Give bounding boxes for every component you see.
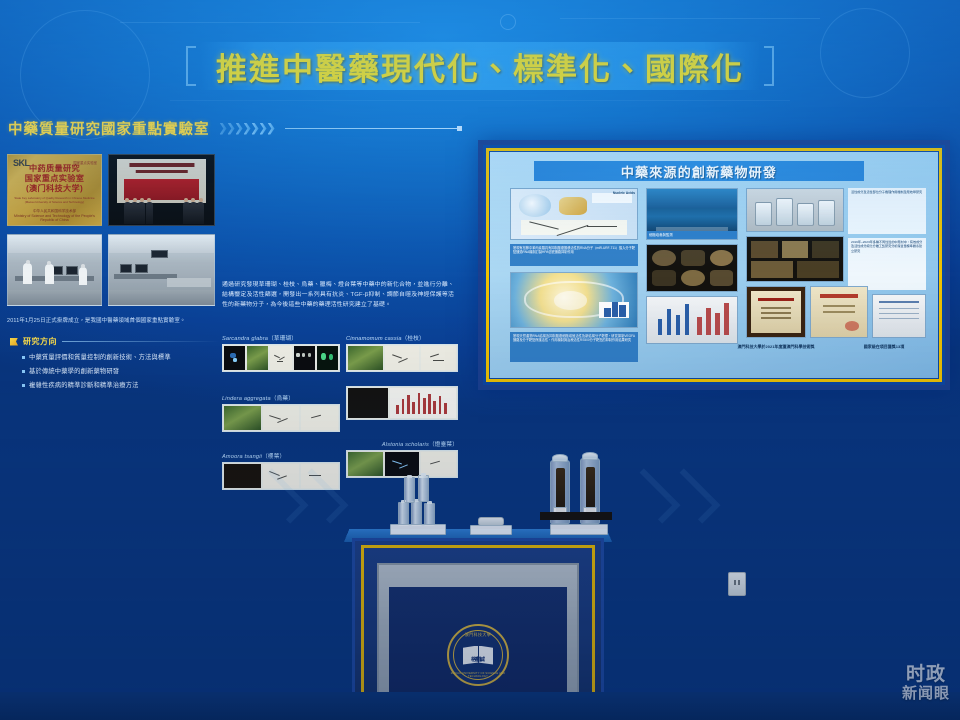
jar-display-base: [540, 512, 612, 520]
screen-side-note-4: 2019年~2023年多種不同性質的中藥材中，有效成分及活性成分純化分離工藝研究…: [848, 238, 926, 290]
lab-researcher: [45, 264, 53, 284]
power-outlet: [728, 572, 746, 596]
decor-circle-small: [820, 8, 910, 98]
lab-ceiling: [8, 235, 101, 253]
lab-monitor: [120, 264, 133, 273]
species-label: Lindera aggregata（烏藥）: [222, 394, 340, 402]
screen-text-block-2: 發現天然產物RNA結構及抑制腫瘤細胞增殖活性及新結構分子靶標，研究抑制VEGFA…: [510, 332, 638, 362]
ceremony-person: [183, 202, 190, 224]
screen-title: 中藥來源的創新藥物研發: [621, 162, 777, 181]
specimen-label-plate-center: [470, 525, 512, 535]
ceremony-text-line-2: [135, 170, 188, 173]
research-heading: 研究方向: [10, 336, 220, 347]
chart-results: [647, 297, 737, 343]
lab-monitor: [135, 264, 148, 273]
jar-lid: [552, 454, 567, 462]
ceremony-person: [146, 202, 153, 224]
plaque-corner-mark: 国家重点实验室: [73, 160, 97, 165]
certificate-document: [751, 291, 801, 333]
species-label: Sarcandra glabra（草珊瑚）: [222, 334, 340, 342]
lab-researcher: [79, 267, 87, 285]
species-label: Alstonia scholaris（燈臺葉）: [346, 440, 458, 448]
lab-researcher: [23, 263, 32, 284]
decor-circle-tiny: [500, 14, 516, 30]
intro-paragraph: 通過研究發現草珊瑚、桂枝、烏藥、臘梅、燈台葉等中藥中的新化合物，並進行分離、結構…: [222, 280, 454, 310]
main-title-banner: 推進中醫藥現代化、標準化、國際化: [200, 42, 760, 90]
figure-instrument: [348, 388, 388, 418]
certificate-document: [811, 287, 867, 337]
info-board-content: [873, 295, 925, 337]
broadcast-watermark: 时政 新闻眼: [902, 665, 950, 702]
figure-plant: [348, 452, 383, 476]
floor: [0, 692, 960, 720]
emblem-book-char-right: 意誠: [475, 656, 485, 663]
specimen-label-plate-left: [390, 524, 446, 535]
figure-structure: [385, 346, 420, 370]
left-info-panel: 中藥質量研究國家重點實驗室 SKL 国家重点实验室 中药质量研究 国家重点实验室…: [0, 118, 462, 408]
pane-gel-results: [646, 296, 738, 344]
plaque-skl-logo: SKL: [13, 158, 30, 168]
specimen-label-plate-right: [550, 524, 608, 535]
screen-text-block-1: 發現有松節中苯丙素類具有抑制腫瘤遷移活性的RNA分子（miR-URF-T11）進…: [510, 244, 638, 266]
pane-nucleic-acids: Nucleic Acids: [510, 188, 638, 240]
presentation-screen[interactable]: 中藥來源的創新藥物研發 Nucleic Acids 發現有松節中苯丙素類具有抑制…: [478, 140, 950, 390]
pane-lab-culture-photo: 細胞培養與監測: [646, 188, 738, 240]
flag-icon: [10, 338, 18, 346]
figure-structure: [263, 406, 300, 430]
pane-info-board: [872, 294, 926, 338]
photo-specimen-grid: [647, 245, 737, 291]
species-block-lindera: Lindera aggregata（烏藥）: [222, 394, 340, 432]
intro-text-column: 通過研究發現草珊瑚、桂枝、烏藥、臘梅、燈台葉等中藥中的新化合物，並進行分離、結構…: [222, 280, 454, 310]
ceremony-person: [124, 202, 131, 224]
figure-plant: [247, 346, 268, 370]
species-label: Amoora tsangii（櫻葉）: [222, 452, 340, 460]
specimen-vial: [398, 502, 409, 526]
photo-sample-jars: [747, 189, 843, 231]
species-block-sarcandra: Sarcandra glabra（草珊瑚）: [222, 334, 340, 372]
chevron-arrows-icon: [220, 123, 275, 135]
diagram-cell: [511, 273, 637, 327]
emblem-bottom-text: MACAU UNIVERSITY OF SCIENCE AND TECHNOLO…: [449, 672, 507, 678]
wall-chevron-decor: [625, 468, 680, 523]
research-list: 中藥質量評價和質量控制的創新技術、方法與標準 基於傳統中藥學的創新藥物研發 複雜…: [10, 353, 220, 390]
opening-ceremony-photo: [108, 154, 215, 226]
page-title: 推進中醫藥現代化、標準化、國際化: [216, 44, 744, 89]
lab-photo-grid: SKL 国家重点实验室 中药质量研究 国家重点实验室 (澳门科技大学) Stat…: [7, 154, 215, 314]
pane-sample-jars: [746, 188, 844, 232]
figure-plant: [224, 406, 261, 430]
jar-lid: [582, 452, 597, 460]
pane-award-certificate-1: [746, 286, 806, 338]
figure-structure: [270, 346, 291, 370]
lab-monitor: [66, 266, 78, 275]
watermark-line-2: 新闻眼: [902, 685, 950, 702]
header-divider: [285, 128, 459, 129]
lab-wall-screen: [151, 250, 168, 258]
screen-caption-2: 國家級在項目獲獎13項: [838, 344, 930, 350]
lab-floor: [8, 290, 101, 305]
ceremony-red-curtain: [124, 179, 200, 200]
lab-floor: [109, 290, 214, 305]
ceremony-person: [190, 202, 197, 224]
ceremony-person: [197, 202, 204, 224]
ceremony-text-line-1: [129, 163, 194, 167]
lab-header-title: 中藥質量研究國家重點實驗室: [8, 118, 210, 139]
banner-edge-left: [186, 46, 196, 86]
banner-edge-right: [764, 46, 774, 86]
screen-content: 中藥來源的創新藥物研發 Nucleic Acids 發現有松節中苯丙素類具有抑制…: [490, 152, 938, 378]
exhibition-wall: 推進中醫藥現代化、標準化、國際化 中藥質量研究國家重點實驗室 SKL 国家重点实…: [0, 0, 960, 720]
figure-strip: [346, 344, 458, 372]
research-directions-block: 研究方向 中藥質量評價和質量控制的創新技術、方法與標準 基於傳統中藥學的創新藥物…: [10, 336, 220, 395]
figure-structure: [421, 346, 456, 370]
figure-gel-blot: [294, 346, 315, 370]
list-item: 複雜性疾病的精準診斷和精準治療方法: [22, 381, 220, 390]
list-item: 中藥質量評價和質量控制的創新技術、方法與標準: [22, 353, 220, 362]
research-divider: [62, 341, 220, 342]
figure-micrograph: [224, 346, 245, 370]
specimen-vial: [411, 501, 422, 526]
ceremony-person: [138, 202, 145, 224]
screen-side-note-3: 活性成分及活性部位分子機理作用機制及藥效學研究: [848, 188, 926, 234]
figure-strip: [222, 404, 340, 432]
list-item: 基於傳統中藥學的創新藥物研發: [22, 367, 220, 376]
screen-title-bar: 中藥來源的創新藥物研發: [534, 161, 864, 181]
figure-strip: [346, 386, 458, 420]
research-title: 研究方向: [23, 336, 57, 347]
wall-chevron-decor: [665, 468, 720, 523]
species-label: Cinnamomum cassia（桂枝）: [346, 334, 458, 342]
ceremony-person: [131, 202, 138, 224]
pane-cell-signaling: [510, 272, 638, 328]
lab-plaque-photo: SKL 国家重点实验室 中药质量研究 国家重点实验室 (澳门科技大学) Stat…: [7, 154, 102, 226]
watermark-line-1: 时政: [902, 665, 950, 685]
figure-structure: [301, 406, 338, 430]
specimen-vial: [404, 477, 415, 503]
university-emblem: 澳門科技大學 MACAU UNIVERSITY OF SCIENCE AND T…: [447, 624, 509, 686]
pane-specimen-grid: [646, 244, 738, 292]
emblem-top-text: 澳門科技大學: [449, 632, 507, 638]
pane-caption: 細胞培養與監測: [647, 231, 737, 239]
specimen-vial: [424, 503, 435, 526]
pane-award-certificate-2: [810, 286, 868, 338]
figure-fluorescence: [317, 346, 338, 370]
decor-line-3: [170, 100, 790, 101]
lab-establishment-caption: 2011年1月25日正式掛牌成立，是我國中醫藥領域首個國家重點實驗室。: [7, 318, 217, 326]
specimen-vial: [418, 475, 429, 502]
specimen-group-vials: [396, 470, 452, 526]
figure-bar-chart: [390, 388, 456, 418]
plaque-english-name: State Key Laboratory of Quality Research…: [10, 197, 99, 205]
figure-strip: [222, 344, 340, 372]
diagram-molecule: [511, 189, 637, 239]
figure-plant: [348, 346, 383, 370]
photo-herb-materials: [747, 237, 843, 281]
plaque-footer: 中华人民共和国科学技术部 Ministry of Science and Tec…: [10, 209, 99, 223]
lab-header: 中藥質量研究國家重點實驗室: [0, 118, 462, 139]
lab-interior-photo-1: [7, 234, 102, 306]
plaque-chinese-name: 中药质量研究 国家重点实验室 (澳门科技大学): [25, 164, 84, 194]
lab-instrument-table: [167, 278, 211, 286]
figure-block-assay: [346, 386, 458, 420]
species-block-cinnamomum: Cinnamomum cassia（桂枝）: [346, 334, 458, 372]
pane-herb-materials: [746, 236, 844, 282]
lab-interior-photo-2: [108, 234, 215, 306]
screen-caption-1: 澳門科技大學於2021年度獲澳門科學技術獎: [716, 344, 836, 350]
decor-line-2: [560, 18, 820, 19]
decor-line-1: [120, 22, 420, 23]
